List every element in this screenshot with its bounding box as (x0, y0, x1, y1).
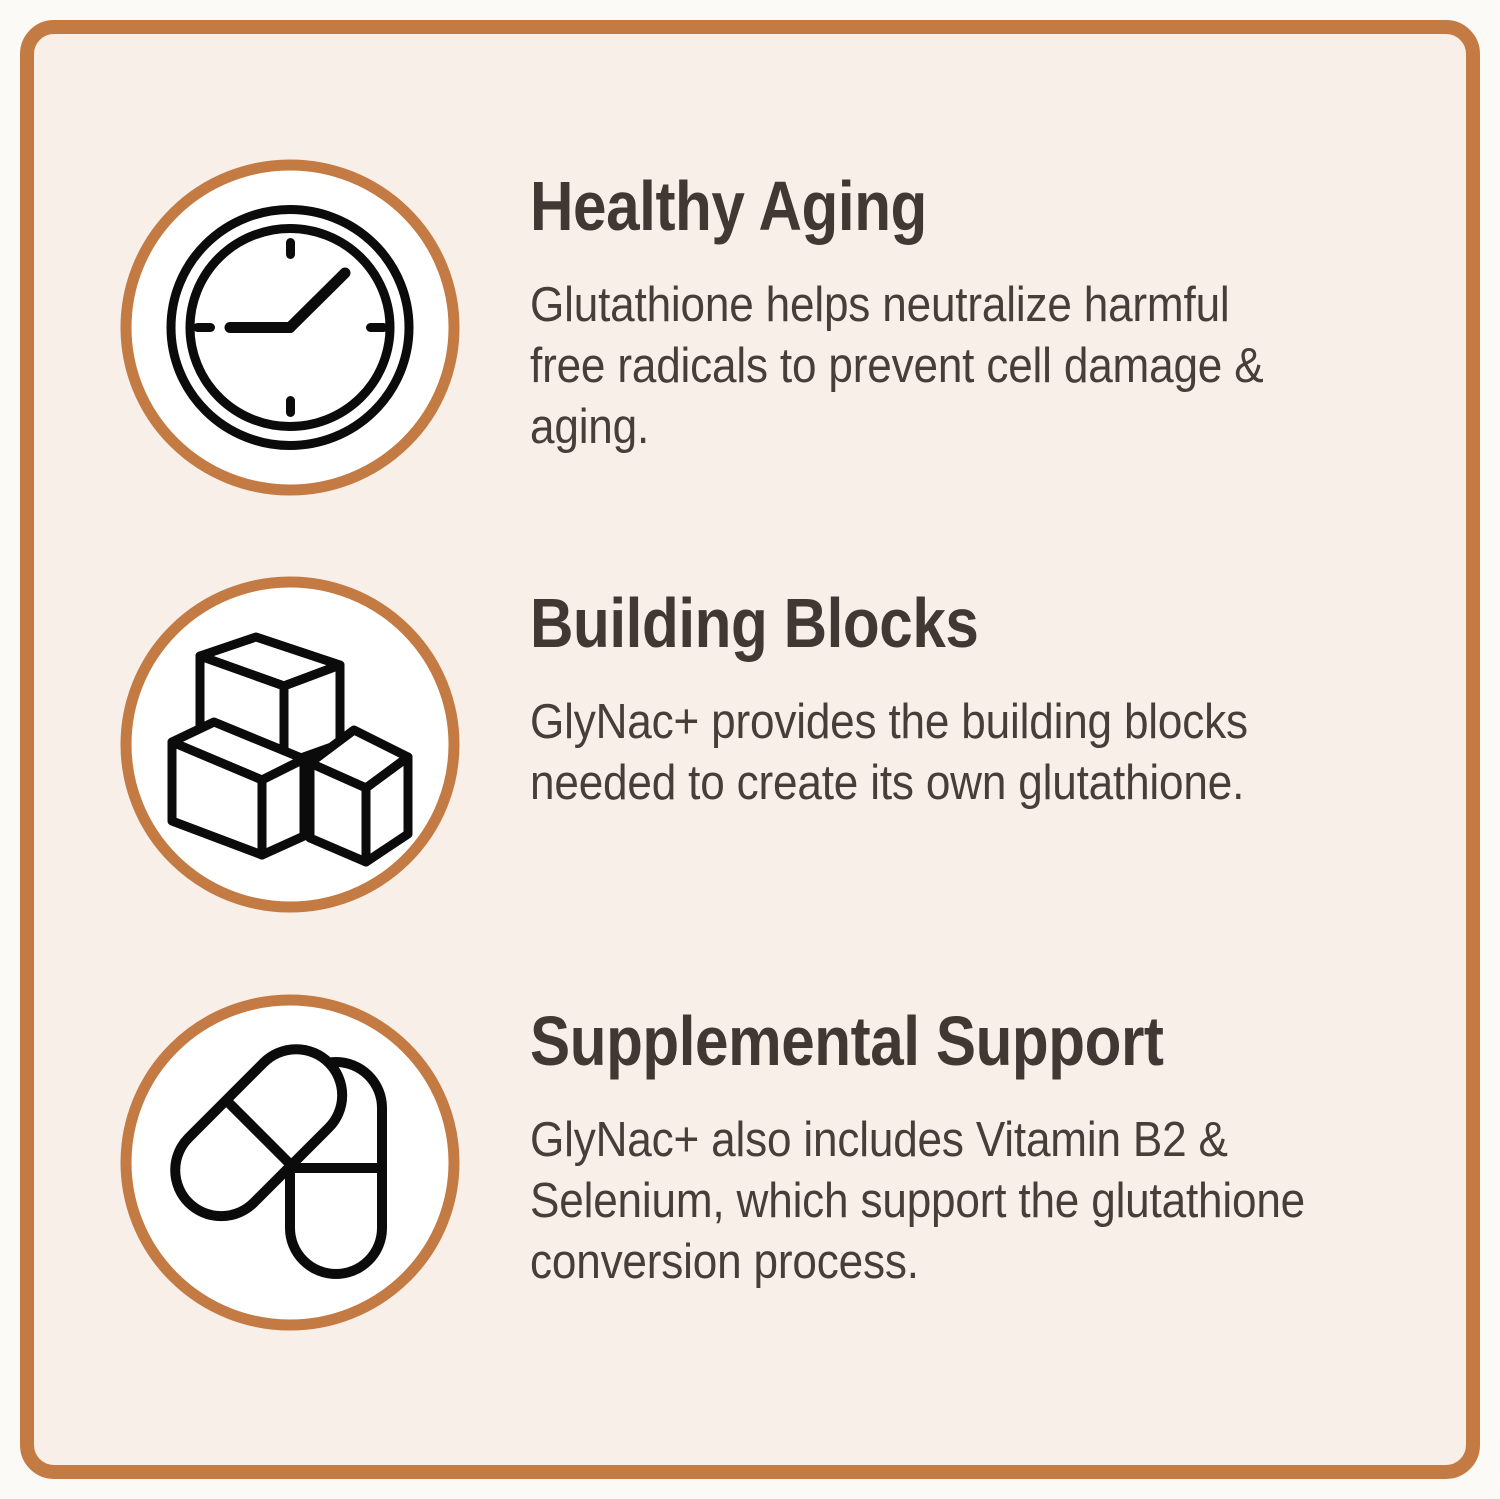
feature-row-building-blocks: Building Blocks GlyNac+ provides the bui… (118, 574, 1398, 915)
feature-body: Glutathione helps neutralize harmful fre… (530, 241, 1311, 458)
feature-list: Healthy Aging Glutathione helps neutrali… (0, 0, 1500, 1499)
feature-title: Supplemental Support (530, 1006, 1276, 1076)
feature-body: GlyNac+ provides the building blocks nee… (530, 658, 1311, 814)
feature-title: Building Blocks (530, 588, 1276, 658)
feature-body: GlyNac+ also includes Vitamin B2 & Selen… (530, 1076, 1311, 1293)
clock-icon (118, 157, 462, 498)
feature-row-supplemental-support: Supplemental Support GlyNac+ also includ… (118, 992, 1398, 1333)
feature-title: Healthy Aging (530, 171, 1276, 241)
building-blocks-icon (118, 574, 462, 915)
capsules-icon (118, 992, 462, 1333)
feature-row-healthy-aging: Healthy Aging Glutathione helps neutrali… (118, 157, 1398, 498)
feature-text-supplemental-support: Supplemental Support GlyNac+ also includ… (462, 992, 1398, 1293)
feature-text-building-blocks: Building Blocks GlyNac+ provides the bui… (462, 574, 1398, 814)
infographic-page: Healthy Aging Glutathione helps neutrali… (0, 0, 1500, 1499)
feature-text-healthy-aging: Healthy Aging Glutathione helps neutrali… (462, 157, 1398, 458)
